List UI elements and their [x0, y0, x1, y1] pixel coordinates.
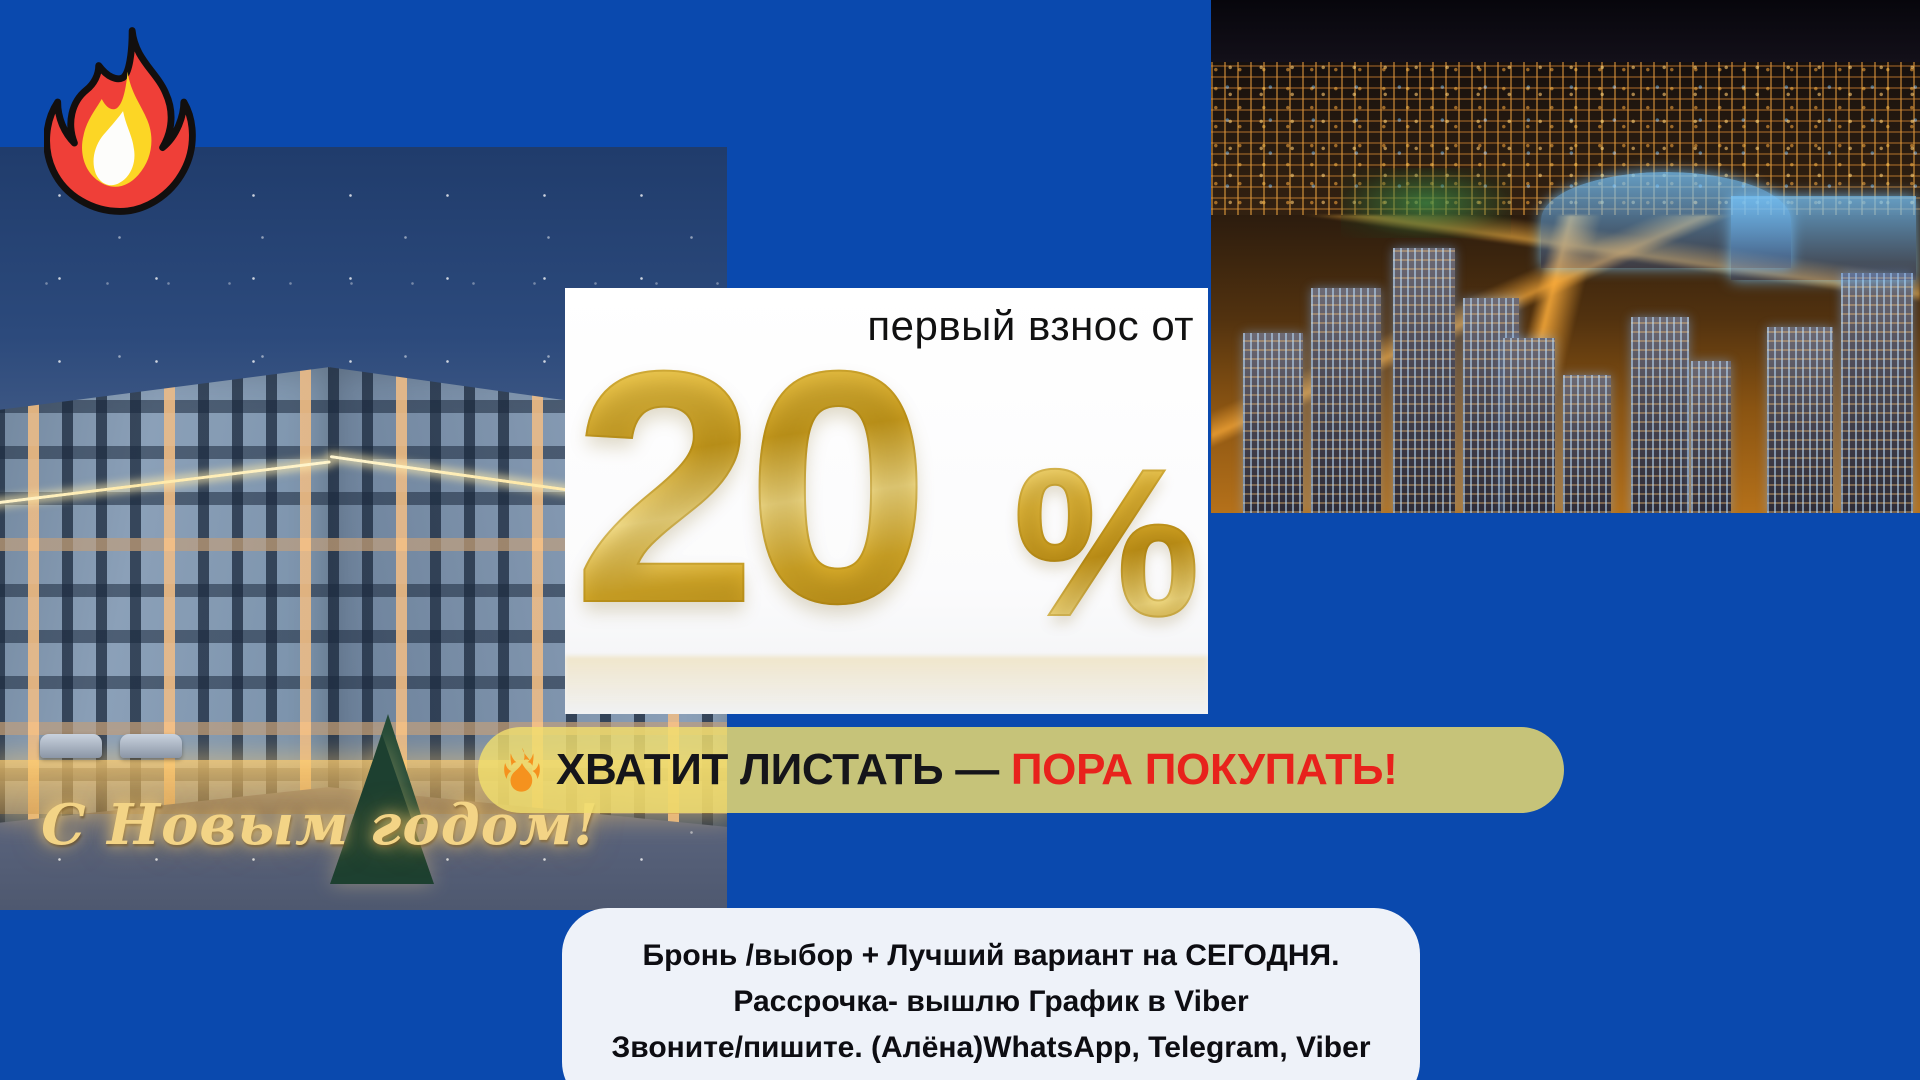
offer-percent-sign: %: [1013, 438, 1200, 648]
gold-reflection: [565, 656, 1208, 714]
tower-block: [1393, 248, 1455, 513]
tower-block: [1503, 338, 1555, 513]
tower-block: [1691, 361, 1731, 513]
contact-card[interactable]: Бронь /выбор + Лучший вариант на СЕГОДНЯ…: [562, 908, 1420, 1080]
cta-text-black: ХВАТИТ ЛИСТАТЬ —: [556, 745, 999, 794]
building-face-left: [0, 367, 330, 827]
contact-line-2: Рассрочка- вышлю График в Viber: [592, 982, 1390, 1022]
tower-block: [1841, 273, 1913, 513]
city-park: [1341, 168, 1511, 238]
night-cityscape-photo: [1211, 0, 1920, 513]
blue-lit-complex: [1731, 196, 1916, 280]
promo-banner-canvas: С Новым годом! первый взнос от 20 %: [0, 0, 1920, 1080]
cta-banner[interactable]: ХВАТИТ ЛИСТАТЬ — ПОРА ПОКУПАТЬ!: [478, 727, 1564, 813]
lit-windows: [0, 367, 330, 827]
contact-line-1: Бронь /выбор + Лучший вариант на СЕГОДНЯ…: [592, 936, 1390, 976]
cta-text: ХВАТИТ ЛИСТАТЬ — ПОРА ПОКУПАТЬ!: [556, 745, 1398, 795]
parked-car: [40, 734, 102, 758]
contact-line-3: Звоните/пишите. (Алёна)WhatsApp, Telegra…: [592, 1028, 1390, 1068]
parked-car: [120, 734, 182, 758]
tower-block: [1243, 333, 1303, 513]
tower-block: [1563, 375, 1611, 513]
tower-block: [1311, 288, 1381, 513]
cta-text-red: ПОРА ПОКУПАТЬ!: [1011, 745, 1398, 794]
fire-icon: [502, 747, 542, 793]
tower-block: [1767, 327, 1833, 513]
tower-block: [1631, 317, 1689, 513]
offer-panel: первый взнос от 20 %: [565, 288, 1208, 714]
fire-icon: [44, 26, 196, 216]
